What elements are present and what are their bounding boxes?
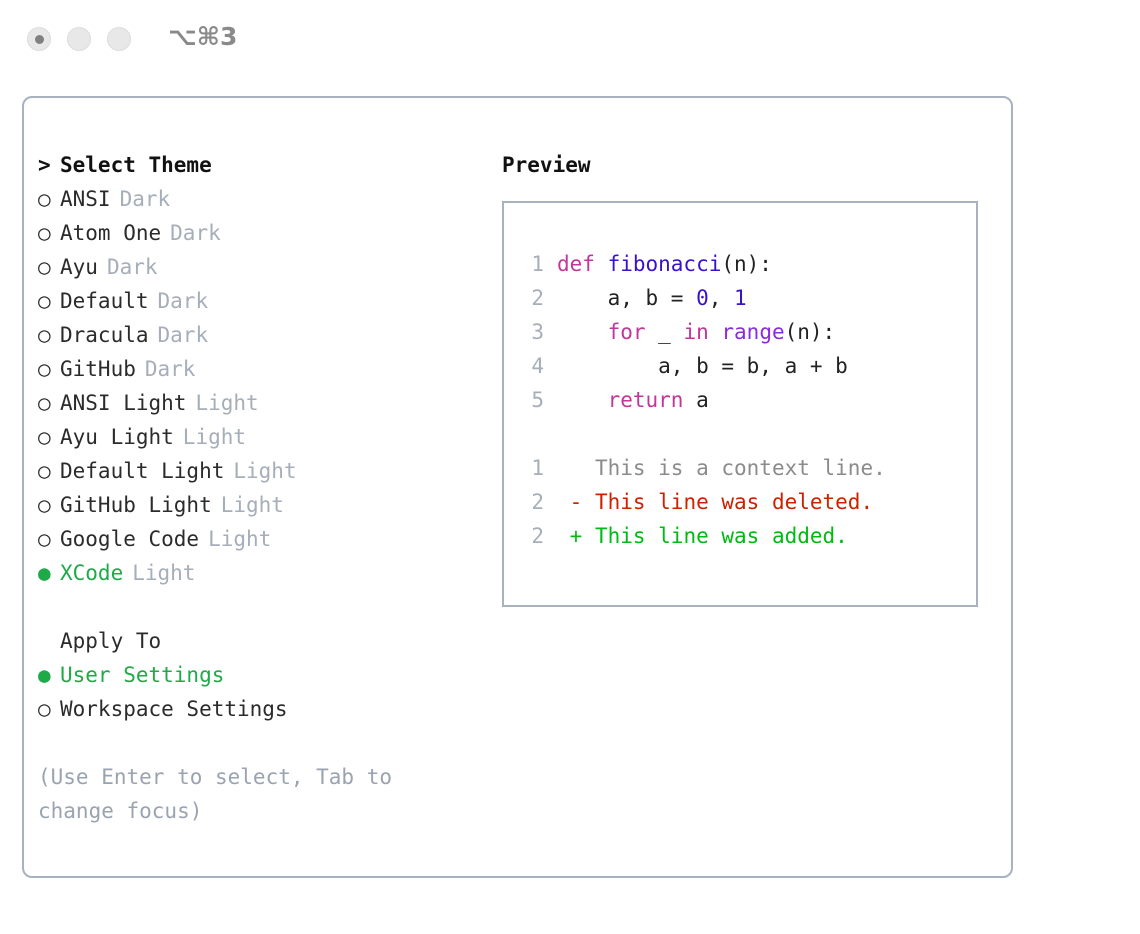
code-token-kw: for [608, 320, 659, 344]
radio-unselected-icon: ○ [38, 182, 60, 216]
code-indent [557, 354, 658, 378]
diff-marker-icon: - [557, 490, 582, 514]
radio-selected-icon: ● [38, 556, 60, 590]
apply-to-option-workspace-settings[interactable]: ○Workspace Settings [38, 692, 468, 726]
theme-option-category: Light [221, 493, 284, 517]
theme-option-ansi[interactable]: ○ANSIDark [38, 182, 468, 216]
code-token-kw: def [557, 252, 608, 276]
theme-option-label: Dracula [60, 323, 149, 347]
diff-line-text: This line was deleted. [582, 490, 873, 514]
theme-option-category: Dark [145, 357, 196, 381]
prompt-caret-icon: > [38, 148, 60, 182]
code-line: 2 a, b = 0, 1 [518, 281, 976, 315]
radio-unselected-icon: ○ [38, 386, 60, 420]
keyboard-shortcut-label: ⌥⌘3 [168, 22, 237, 51]
select-theme-heading: >Select Theme [38, 148, 468, 182]
code-sample: 1def fibonacci(n):2 a, b = 0, 13 for _ i… [518, 247, 976, 417]
code-token-plain: (n): [721, 252, 772, 276]
apply-to-heading-label: Apply To [60, 629, 161, 653]
code-token-bi: range [721, 320, 784, 344]
theme-option-github[interactable]: ○GitHubDark [38, 352, 468, 386]
theme-option-label: Ayu [60, 255, 98, 279]
theme-option-label: Ayu Light [60, 425, 174, 449]
code-line-number: 1 [518, 247, 544, 281]
theme-option-category: Light [132, 561, 195, 585]
diff-line-add: 2 + This line was added. [518, 519, 976, 553]
code-line: 5 return a [518, 383, 976, 417]
theme-option-label: Default Light [60, 459, 224, 483]
theme-option-label: Atom One [60, 221, 161, 245]
code-token-kw: in [683, 320, 721, 344]
select-theme-heading-label: Select Theme [60, 153, 212, 177]
radio-unselected-icon: ○ [38, 420, 60, 454]
theme-option-atom-one[interactable]: ○Atom OneDark [38, 216, 468, 250]
app-window: ⌥⌘3 >Select Theme ○ANSIDark○Atom OneDark… [0, 0, 1140, 934]
theme-option-category: Dark [120, 187, 171, 211]
code-token-num: 1 [734, 286, 747, 310]
theme-option-label: Default [60, 289, 149, 313]
code-token-plain: , [709, 286, 734, 310]
radio-unselected-icon: ○ [38, 250, 60, 284]
code-token-num: 0 [696, 286, 709, 310]
theme-option-label: GitHub [60, 357, 136, 381]
theme-option-ayu[interactable]: ○AyuDark [38, 250, 468, 284]
window-dot-active-indicator [35, 35, 44, 44]
code-token-plain: a [696, 388, 709, 412]
theme-option-dracula[interactable]: ○DraculaDark [38, 318, 468, 352]
code-line-number: 2 [518, 281, 544, 315]
theme-options-list: ○ANSIDark○Atom OneDark○AyuDark○DefaultDa… [38, 182, 468, 590]
diff-line-number: 1 [518, 451, 544, 485]
theme-selector-panel: >Select Theme ○ANSIDark○Atom OneDark○Ayu… [22, 96, 1013, 878]
theme-list-column: >Select Theme ○ANSIDark○Atom OneDark○Ayu… [38, 148, 468, 828]
apply-to-heading: Apply To [38, 624, 468, 658]
theme-option-google-code[interactable]: ○Google CodeLight [38, 522, 468, 556]
apply-to-option-label: Workspace Settings [60, 697, 288, 721]
radio-unselected-icon: ○ [38, 284, 60, 318]
code-token-plain: (n): [785, 320, 836, 344]
theme-option-label: Google Code [60, 527, 199, 551]
diff-line-text: This is a context line. [582, 456, 885, 480]
theme-option-github-light[interactable]: ○GitHub LightLight [38, 488, 468, 522]
radio-unselected-icon: ○ [38, 352, 60, 386]
diff-marker-icon: + [557, 524, 582, 548]
code-line: 4 a, b = b, a + b [518, 349, 976, 383]
code-diff-spacer [518, 417, 976, 451]
code-indent [557, 320, 608, 344]
code-indent [557, 286, 608, 310]
diff-line-ctx: 1 This is a context line. [518, 451, 976, 485]
diff-line-del: 2 - This line was deleted. [518, 485, 976, 519]
diff-line-number: 2 [518, 485, 544, 519]
code-line: 1def fibonacci(n): [518, 247, 976, 281]
code-token-kw: return [608, 388, 697, 412]
diff-sample: 1 This is a context line.2 - This line w… [518, 451, 976, 553]
theme-option-category: Dark [158, 289, 209, 313]
theme-option-label: GitHub Light [60, 493, 212, 517]
apply-to-option-user-settings[interactable]: ●User Settings [38, 658, 468, 692]
theme-option-category: Dark [158, 323, 209, 347]
code-line: 3 for _ in range(n): [518, 315, 976, 349]
code-token-fn: fibonacci [608, 252, 722, 276]
preview-code-box: 1def fibonacci(n):2 a, b = 0, 13 for _ i… [502, 201, 978, 607]
code-token-plain: a, b = [608, 286, 697, 310]
theme-option-category: Light [233, 459, 296, 483]
code-token-plain: a, b = b, a + b [658, 354, 848, 378]
theme-option-category: Light [195, 391, 258, 415]
code-indent [557, 388, 608, 412]
theme-option-category: Dark [170, 221, 221, 245]
theme-option-category: Dark [107, 255, 158, 279]
theme-option-label: ANSI Light [60, 391, 186, 415]
radio-selected-icon: ● [38, 658, 60, 692]
theme-option-category: Light [183, 425, 246, 449]
theme-option-default[interactable]: ○DefaultDark [38, 284, 468, 318]
theme-option-xcode[interactable]: ●XCodeLight [38, 556, 468, 590]
radio-unselected-icon: ○ [38, 692, 60, 726]
theme-option-ansi-light[interactable]: ○ANSI LightLight [38, 386, 468, 420]
code-token-plain: _ [658, 320, 683, 344]
theme-option-default-light[interactable]: ○Default LightLight [38, 454, 468, 488]
code-line-number: 4 [518, 349, 544, 383]
radio-unselected-icon: ○ [38, 454, 60, 488]
theme-option-ayu-light[interactable]: ○Ayu LightLight [38, 420, 468, 454]
apply-to-options-list: ●User Settings○Workspace Settings [38, 658, 468, 726]
window-maximize-dot[interactable] [107, 27, 131, 51]
apply-to-option-label: User Settings [60, 663, 224, 687]
preview-heading: Preview [502, 148, 1002, 182]
radio-unselected-icon: ○ [38, 522, 60, 556]
diff-line-number: 2 [518, 519, 544, 553]
theme-option-label: XCode [60, 561, 123, 585]
theme-option-category: Light [208, 527, 271, 551]
window-minimize-dot[interactable] [67, 27, 91, 51]
keyboard-hint-text: (Use Enter to select, Tab to change focu… [38, 760, 438, 828]
code-line-number: 3 [518, 315, 544, 349]
window-close-dot[interactable] [27, 27, 51, 51]
title-bar: ⌥⌘3 [0, 0, 1140, 80]
diff-line-text: This line was added. [582, 524, 848, 548]
radio-unselected-icon: ○ [38, 488, 60, 522]
preview-column: Preview 1def fibonacci(n):2 a, b = 0, 13… [502, 148, 1002, 607]
code-line-number: 5 [518, 383, 544, 417]
theme-option-label: ANSI [60, 187, 111, 211]
radio-unselected-icon: ○ [38, 318, 60, 352]
diff-marker-icon [557, 456, 582, 480]
radio-unselected-icon: ○ [38, 216, 60, 250]
